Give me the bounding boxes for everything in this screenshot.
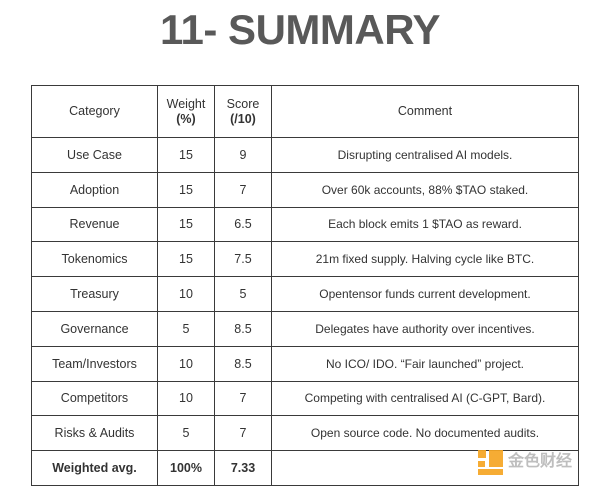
- summary-table: Category Weight (%) Score (/10) Comment …: [31, 85, 579, 486]
- cell-category: Adoption: [32, 172, 158, 207]
- table-row: Governance 5 8.5 Delegates have authorit…: [32, 311, 579, 346]
- table-header-row: Category Weight (%) Score (/10) Comment: [32, 86, 579, 138]
- column-header-comment: Comment: [272, 86, 579, 138]
- column-header-score: Score (/10): [215, 86, 272, 138]
- cell-score: 8.5: [215, 311, 272, 346]
- cell-score-total: 7.33: [215, 451, 272, 486]
- cell-category-total: Weighted avg.: [32, 451, 158, 486]
- cell-category: Use Case: [32, 138, 158, 173]
- cell-weight: 15: [158, 207, 215, 242]
- table-row: Use Case 15 9 Disrupting centralised AI …: [32, 138, 579, 173]
- cell-weight: 15: [158, 172, 215, 207]
- column-header-score-unit: (/10): [215, 112, 271, 127]
- table-row: Tokenomics 15 7.5 21m fixed supply. Halv…: [32, 242, 579, 277]
- cell-score: 8.5: [215, 346, 272, 381]
- cell-category: Competitors: [32, 381, 158, 416]
- column-header-weight: Weight (%): [158, 86, 215, 138]
- cell-weight-total: 100%: [158, 451, 215, 486]
- table-row: Revenue 15 6.5 Each block emits 1 $TAO a…: [32, 207, 579, 242]
- cell-score: 7: [215, 416, 272, 451]
- cell-comment: Each block emits 1 $TAO as reward.: [272, 207, 579, 242]
- cell-comment: Competing with centralised AI (C-GPT, Ba…: [272, 381, 579, 416]
- cell-weight: 5: [158, 416, 215, 451]
- page-title: 11- SUMMARY: [0, 2, 600, 58]
- watermark: 金色财经: [478, 447, 590, 477]
- cell-score: 7: [215, 172, 272, 207]
- cell-comment: Opentensor funds current development.: [272, 277, 579, 312]
- cell-comment: Over 60k accounts, 88% $TAO staked.: [272, 172, 579, 207]
- summary-table-container: Category Weight (%) Score (/10) Comment …: [31, 85, 578, 486]
- watermark-text: 金色财经: [508, 452, 572, 472]
- cell-comment: Disrupting centralised AI models.: [272, 138, 579, 173]
- cell-weight: 15: [158, 138, 215, 173]
- cell-score: 7.5: [215, 242, 272, 277]
- slide: 11- SUMMARY Category Weight (%) Score: [0, 0, 600, 483]
- table-body: Use Case 15 9 Disrupting centralised AI …: [32, 138, 579, 486]
- brand-logo-icon: [478, 450, 503, 475]
- cell-comment: Open source code. No documented audits.: [272, 416, 579, 451]
- cell-category: Revenue: [32, 207, 158, 242]
- table-header: Category Weight (%) Score (/10) Comment: [32, 86, 579, 138]
- cell-weight: 10: [158, 277, 215, 312]
- column-header-weight-unit: (%): [158, 112, 214, 127]
- cell-category: Team/Investors: [32, 346, 158, 381]
- cell-category: Tokenomics: [32, 242, 158, 277]
- cell-comment: Delegates have authority over incentives…: [272, 311, 579, 346]
- cell-weight: 15: [158, 242, 215, 277]
- cell-score: 6.5: [215, 207, 272, 242]
- cell-comment: 21m fixed supply. Halving cycle like BTC…: [272, 242, 579, 277]
- table-row: Adoption 15 7 Over 60k accounts, 88% $TA…: [32, 172, 579, 207]
- column-header-score-label: Score: [227, 97, 260, 111]
- column-header-category: Category: [32, 86, 158, 138]
- cell-comment: No ICO/ IDO. “Fair launched” project.: [272, 346, 579, 381]
- cell-category: Treasury: [32, 277, 158, 312]
- cell-category: Risks & Audits: [32, 416, 158, 451]
- column-header-weight-label: Weight: [167, 97, 206, 111]
- table-row: Team/Investors 10 8.5 No ICO/ IDO. “Fair…: [32, 346, 579, 381]
- cell-score: 5: [215, 277, 272, 312]
- table-row: Competitors 10 7 Competing with centrali…: [32, 381, 579, 416]
- cell-weight: 10: [158, 381, 215, 416]
- cell-weight: 10: [158, 346, 215, 381]
- cell-category: Governance: [32, 311, 158, 346]
- cell-score: 7: [215, 381, 272, 416]
- cell-weight: 5: [158, 311, 215, 346]
- table-row: Treasury 10 5 Opentensor funds current d…: [32, 277, 579, 312]
- table-row: Risks & Audits 5 7 Open source code. No …: [32, 416, 579, 451]
- cell-score: 9: [215, 138, 272, 173]
